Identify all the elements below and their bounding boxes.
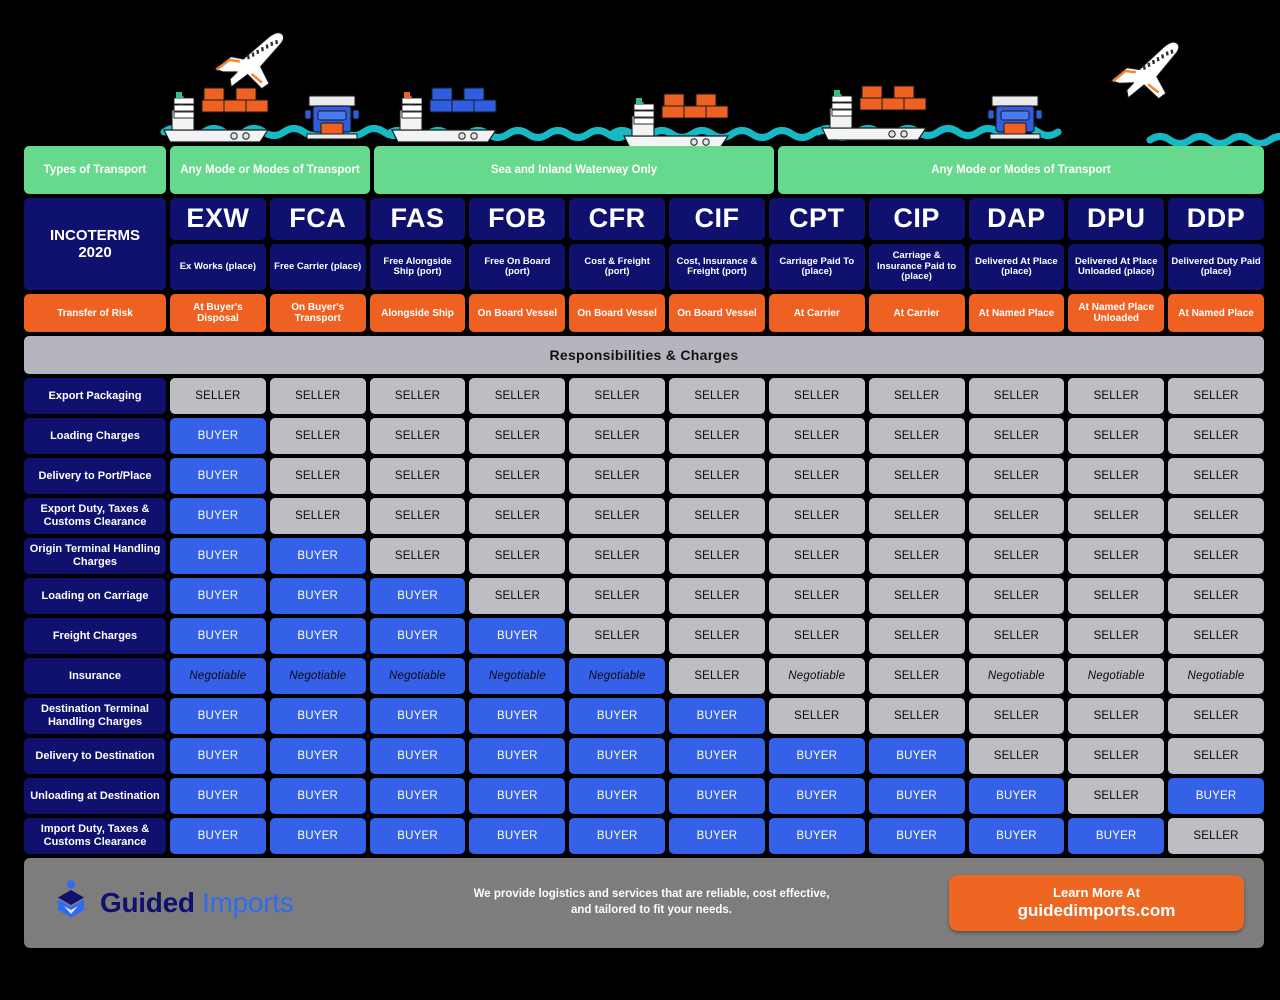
table-row: Unloading at DestinationBUYERBUYERBUYERB… (24, 778, 1264, 814)
cell-exw-r6: BUYER (170, 578, 266, 614)
cell-cpt-r6: SELLER (769, 578, 865, 614)
cell-cip-r12: BUYER (869, 818, 965, 854)
term-code-ddp[interactable]: DDP (1168, 198, 1264, 240)
cell-exw-r7: BUYER (170, 618, 266, 654)
cell-cpt-r5: SELLER (769, 538, 865, 574)
footer-tagline: We provide logistics and services that a… (354, 887, 949, 918)
cell-cif-r8: SELLER (669, 658, 765, 694)
cell-cpt-r10: BUYER (769, 738, 865, 774)
term-fullname-fob: Free On Board (port) (469, 244, 565, 290)
term-fullname-cip: Carriage & Insurance Paid to (place) (869, 244, 965, 290)
tagline-line-1: We provide logistics and services that a… (374, 887, 929, 903)
cell-fas-r3: SELLER (370, 458, 466, 494)
term-code-cif[interactable]: CIF (669, 198, 765, 240)
cta-line-1: Learn More At (1053, 886, 1140, 901)
mode-group-sea: Sea and Inland Waterway Only (374, 146, 774, 194)
term-fullname-dap: Delivered At Place (place) (969, 244, 1065, 290)
cell-cpt-r9: SELLER (769, 698, 865, 734)
cell-fas-r11: BUYER (370, 778, 466, 814)
row-label-delivery-to-destination: Delivery to Destination (24, 738, 166, 774)
cell-cif-r10: BUYER (669, 738, 765, 774)
water-wave-far-right (1150, 137, 1280, 144)
term-risk-exw: At Buyer's Disposal (170, 294, 266, 332)
cell-exw-r11: BUYER (170, 778, 266, 814)
cell-cip-r11: BUYER (869, 778, 965, 814)
cell-cip-r6: SELLER (869, 578, 965, 614)
cell-fob-r6: SELLER (469, 578, 565, 614)
cell-cpt-r8: Negotiable (769, 658, 865, 694)
cell-exw-r3: BUYER (170, 458, 266, 494)
brand-primary: Guided (100, 887, 195, 918)
term-code-fas[interactable]: FAS (370, 198, 466, 240)
cell-cpt-r1: SELLER (769, 378, 865, 414)
cell-cfr-r4: SELLER (569, 498, 665, 534)
term-risk-fas: Alongside Ship (370, 294, 466, 332)
cell-cfr-r9: BUYER (569, 698, 665, 734)
row-label-loading-on-carriage: Loading on Carriage (24, 578, 166, 614)
cell-ddp-r3: SELLER (1168, 458, 1264, 494)
cell-fca-r7: BUYER (270, 618, 366, 654)
cell-cip-r4: SELLER (869, 498, 965, 534)
cell-ddp-r7: SELLER (1168, 618, 1264, 654)
cell-cip-r5: SELLER (869, 538, 965, 574)
term-risk-dpu: At Named Place Unloaded (1068, 294, 1164, 332)
cell-dap-r1: SELLER (969, 378, 1065, 414)
transport-illustration (0, 0, 1280, 146)
cell-dpu-r8: Negotiable (1068, 658, 1164, 694)
cell-cpt-r2: SELLER (769, 418, 865, 454)
cell-ddp-r9: SELLER (1168, 698, 1264, 734)
cell-dpu-r3: SELLER (1068, 458, 1164, 494)
cell-cfr-r2: SELLER (569, 418, 665, 454)
cell-ddp-r6: SELLER (1168, 578, 1264, 614)
brand-wordmark: Guided Imports (100, 887, 293, 919)
brand-secondary: Imports (202, 887, 293, 918)
term-code-cip[interactable]: CIP (869, 198, 965, 240)
row-label-unloading-at-destination: Unloading at Destination (24, 778, 166, 814)
guided-imports-logo-icon (54, 880, 88, 926)
cell-cif-r6: SELLER (669, 578, 765, 614)
term-fullname-row: Ex Works (place)Free Carrier (place)Free… (170, 244, 1264, 290)
row-label-export-packaging: Export Packaging (24, 378, 166, 414)
cell-fca-r9: BUYER (270, 698, 366, 734)
cell-cip-r8: SELLER (869, 658, 965, 694)
term-fullname-cfr: Cost & Freight (port) (569, 244, 665, 290)
term-code-dap[interactable]: DAP (969, 198, 1065, 240)
cell-cif-r12: BUYER (669, 818, 765, 854)
table-row: Delivery to Port/PlaceBUYERSELLERSELLERS… (24, 458, 1264, 494)
responsibilities-matrix: Export PackagingSELLERSELLERSELLERSELLER… (24, 378, 1264, 854)
term-fullname-fca: Free Carrier (place) (270, 244, 366, 290)
cell-cpt-r12: BUYER (769, 818, 865, 854)
table-row: Export Duty, Taxes & Customs ClearanceBU… (24, 498, 1264, 534)
term-fullname-fas: Free Alongside Ship (port) (370, 244, 466, 290)
cell-dpu-r5: SELLER (1068, 538, 1164, 574)
term-risk-fca: On Buyer's Transport (270, 294, 366, 332)
infographic-canvas: Types of Transport Any Mode or Modes of … (0, 0, 1280, 1000)
cell-dpu-r6: SELLER (1068, 578, 1164, 614)
cell-exw-r8: Negotiable (170, 658, 266, 694)
term-risk-cip: At Carrier (869, 294, 965, 332)
cell-dpu-r2: SELLER (1068, 418, 1164, 454)
cta-line-2: guidedimports.com (1018, 901, 1176, 921)
cell-fca-r12: BUYER (270, 818, 366, 854)
cell-fas-r6: BUYER (370, 578, 466, 614)
cell-fob-r4: SELLER (469, 498, 565, 534)
cell-fob-r11: BUYER (469, 778, 565, 814)
cell-cip-r1: SELLER (869, 378, 965, 414)
term-code-dpu[interactable]: DPU (1068, 198, 1164, 240)
row-label-export-duty-taxes-customs-clearance: Export Duty, Taxes & Customs Clearance (24, 498, 166, 534)
term-fullname-cpt: Carriage Paid To (place) (769, 244, 865, 290)
cell-fca-r11: BUYER (270, 778, 366, 814)
cell-dap-r3: SELLER (969, 458, 1065, 494)
cell-fas-r10: BUYER (370, 738, 466, 774)
cell-fob-r1: SELLER (469, 378, 565, 414)
cell-ddp-r5: SELLER (1168, 538, 1264, 574)
cell-exw-r10: BUYER (170, 738, 266, 774)
cell-dap-r9: SELLER (969, 698, 1065, 734)
cell-cif-r3: SELLER (669, 458, 765, 494)
cell-dap-r4: SELLER (969, 498, 1065, 534)
incoterms-title-line1: INCOTERMS (50, 227, 140, 244)
cell-cip-r10: BUYER (869, 738, 965, 774)
cell-exw-r5: BUYER (170, 538, 266, 574)
cell-fob-r10: BUYER (469, 738, 565, 774)
cell-exw-r4: BUYER (170, 498, 266, 534)
cell-fca-r5: BUYER (270, 538, 366, 574)
cell-ddp-r12: SELLER (1168, 818, 1264, 854)
cell-fca-r6: BUYER (270, 578, 366, 614)
table-row: Loading ChargesBUYERSELLERSELLERSELLERSE… (24, 418, 1264, 454)
cell-cif-r2: SELLER (669, 418, 765, 454)
cell-ddp-r1: SELLER (1168, 378, 1264, 414)
cell-dpu-r10: SELLER (1068, 738, 1164, 774)
cell-cif-r1: SELLER (669, 378, 765, 414)
table-row: Loading on CarriageBUYERBUYERBUYERSELLER… (24, 578, 1264, 614)
cell-cif-r7: SELLER (669, 618, 765, 654)
cell-ddp-r8: Negotiable (1168, 658, 1264, 694)
term-fullname-dpu: Delivered At Place Unloaded (place) (1068, 244, 1164, 290)
cell-cfr-r12: BUYER (569, 818, 665, 854)
cell-dap-r11: BUYER (969, 778, 1065, 814)
cell-exw-r9: BUYER (170, 698, 266, 734)
cell-ddp-r10: SELLER (1168, 738, 1264, 774)
cell-cfr-r10: BUYER (569, 738, 665, 774)
cell-dpu-r7: SELLER (1068, 618, 1164, 654)
term-fullname-ddp: Delivered Duty Paid (place) (1168, 244, 1264, 290)
cell-cfr-r3: SELLER (569, 458, 665, 494)
cell-fca-r10: BUYER (270, 738, 366, 774)
term-risk-row: At Buyer's DisposalOn Buyer's TransportA… (170, 294, 1264, 332)
cell-fas-r9: BUYER (370, 698, 466, 734)
cell-cip-r9: SELLER (869, 698, 965, 734)
term-code-fob[interactable]: FOB (469, 198, 565, 240)
term-risk-cif: On Board Vessel (669, 294, 765, 332)
cell-dap-r12: BUYER (969, 818, 1065, 854)
cell-cfr-r6: SELLER (569, 578, 665, 614)
row-label-destination-terminal-handling-charges: Destination Terminal Handling Charges (24, 698, 166, 734)
cell-cpt-r4: SELLER (769, 498, 865, 534)
cell-cif-r4: SELLER (669, 498, 765, 534)
cell-ddp-r11: BUYER (1168, 778, 1264, 814)
cell-cpt-r7: SELLER (769, 618, 865, 654)
term-fullname-exw: Ex Works (place) (170, 244, 266, 290)
mode-group-any-1: Any Mode or Modes of Transport (170, 146, 370, 194)
cell-fas-r8: Negotiable (370, 658, 466, 694)
tagline-line-2: and tailored to fit your needs. (374, 903, 929, 919)
learn-more-button[interactable]: Learn More At guidedimports.com (949, 875, 1244, 931)
row-label-delivery-to-port-place: Delivery to Port/Place (24, 458, 166, 494)
incoterms-table: Types of Transport Any Mode or Modes of … (24, 146, 1264, 858)
cargo-ship-orange-icon (624, 94, 728, 146)
cell-fas-r7: BUYER (370, 618, 466, 654)
cell-fca-r1: SELLER (270, 378, 366, 414)
cell-cfr-r5: SELLER (569, 538, 665, 574)
cell-exw-r1: SELLER (170, 378, 266, 414)
term-code-fca[interactable]: FCA (270, 198, 366, 240)
cell-fas-r2: SELLER (370, 418, 466, 454)
table-row: Destination Terminal Handling ChargesBUY… (24, 698, 1264, 734)
cell-dpu-r12: BUYER (1068, 818, 1164, 854)
cell-fob-r9: BUYER (469, 698, 565, 734)
mode-group-any-2: Any Mode or Modes of Transport (778, 146, 1264, 194)
term-code-cfr[interactable]: CFR (569, 198, 665, 240)
cell-cfr-r8: Negotiable (569, 658, 665, 694)
cell-fas-r1: SELLER (370, 378, 466, 414)
cell-ddp-r4: SELLER (1168, 498, 1264, 534)
cell-dap-r6: SELLER (969, 578, 1065, 614)
cell-fas-r5: SELLER (370, 538, 466, 574)
cell-cpt-r11: BUYER (769, 778, 865, 814)
cell-cfr-r1: SELLER (569, 378, 665, 414)
row-label-freight-charges: Freight Charges (24, 618, 166, 654)
types-of-transport-label: Types of Transport (24, 146, 166, 194)
table-row: Delivery to DestinationBUYERBUYERBUYERBU… (24, 738, 1264, 774)
airplane-icon (211, 32, 291, 95)
cell-cif-r5: SELLER (669, 538, 765, 574)
cell-dap-r2: SELLER (969, 418, 1065, 454)
cell-fob-r12: BUYER (469, 818, 565, 854)
cell-exw-r2: BUYER (170, 418, 266, 454)
cell-fob-r3: SELLER (469, 458, 565, 494)
cell-cfr-r7: SELLER (569, 618, 665, 654)
table-row: Import Duty, Taxes & Customs ClearanceBU… (24, 818, 1264, 854)
cell-fca-r4: SELLER (270, 498, 366, 534)
cell-cip-r2: SELLER (869, 418, 965, 454)
term-risk-dap: At Named Place (969, 294, 1065, 332)
term-fullname-cif: Cost, Insurance & Freight (port) (669, 244, 765, 290)
term-risk-cpt: At Carrier (769, 294, 865, 332)
cell-exw-r12: BUYER (170, 818, 266, 854)
cell-fob-r7: BUYER (469, 618, 565, 654)
cell-fob-r8: Negotiable (469, 658, 565, 694)
cell-fas-r12: BUYER (370, 818, 466, 854)
cell-dpu-r4: SELLER (1068, 498, 1164, 534)
cell-fas-r4: SELLER (370, 498, 466, 534)
cell-dpu-r1: SELLER (1068, 378, 1164, 414)
term-code-cpt[interactable]: CPT (769, 198, 865, 240)
table-row: InsuranceNegotiableNegotiableNegotiableN… (24, 658, 1264, 694)
cargo-ship-orange-icon (822, 86, 926, 140)
term-risk-ddp: At Named Place (1168, 294, 1264, 332)
cell-cpt-r3: SELLER (769, 458, 865, 494)
cell-dpu-r9: SELLER (1068, 698, 1164, 734)
incoterms-title-line2: 2020 (50, 244, 140, 261)
term-code-row: EXWFCAFASFOBCFRCIFCPTCIPDAPDPUDDP (170, 198, 1264, 240)
row-label-origin-terminal-handling-charges: Origin Terminal Handling Charges (24, 538, 166, 574)
cell-fob-r5: SELLER (469, 538, 565, 574)
footer-bar: Guided Imports We provide logistics and … (24, 858, 1264, 948)
cell-dpu-r11: SELLER (1068, 778, 1164, 814)
responsibilities-banner: Responsibilities & Charges (24, 336, 1264, 374)
cell-cip-r7: SELLER (869, 618, 965, 654)
cell-fob-r2: SELLER (469, 418, 565, 454)
cell-dap-r7: SELLER (969, 618, 1065, 654)
cell-fca-r8: Negotiable (270, 658, 366, 694)
cargo-ship-orange-icon (164, 88, 268, 142)
cell-dap-r5: SELLER (969, 538, 1065, 574)
cell-cip-r3: SELLER (869, 458, 965, 494)
airplane-icon (1106, 41, 1187, 106)
cell-cif-r11: BUYER (669, 778, 765, 814)
brand-logo[interactable]: Guided Imports (54, 880, 354, 926)
cell-dap-r10: SELLER (969, 738, 1065, 774)
cell-fca-r2: SELLER (270, 418, 366, 454)
incoterms-title: INCOTERMS 2020 (24, 198, 166, 290)
cell-ddp-r2: SELLER (1168, 418, 1264, 454)
table-row: Export PackagingSELLERSELLERSELLERSELLER… (24, 378, 1264, 414)
transfer-of-risk-label: Transfer of Risk (24, 294, 166, 332)
row-label-import-duty-taxes-customs-clearance: Import Duty, Taxes & Customs Clearance (24, 818, 166, 854)
transport-mode-row: Types of Transport Any Mode or Modes of … (24, 146, 1264, 194)
cell-fca-r3: SELLER (270, 458, 366, 494)
cargo-ship-blue-icon (392, 88, 496, 142)
table-row: Freight ChargesBUYERBUYERBUYERBUYERSELLE… (24, 618, 1264, 654)
row-label-insurance: Insurance (24, 658, 166, 694)
term-code-exw[interactable]: EXW (170, 198, 266, 240)
row-label-loading-charges: Loading Charges (24, 418, 166, 454)
cell-cfr-r11: BUYER (569, 778, 665, 814)
cell-cif-r9: BUYER (669, 698, 765, 734)
cell-dap-r8: Negotiable (969, 658, 1065, 694)
table-row: Origin Terminal Handling ChargesBUYERBUY… (24, 538, 1264, 574)
term-risk-cfr: On Board Vessel (569, 294, 665, 332)
term-risk-fob: On Board Vessel (469, 294, 565, 332)
